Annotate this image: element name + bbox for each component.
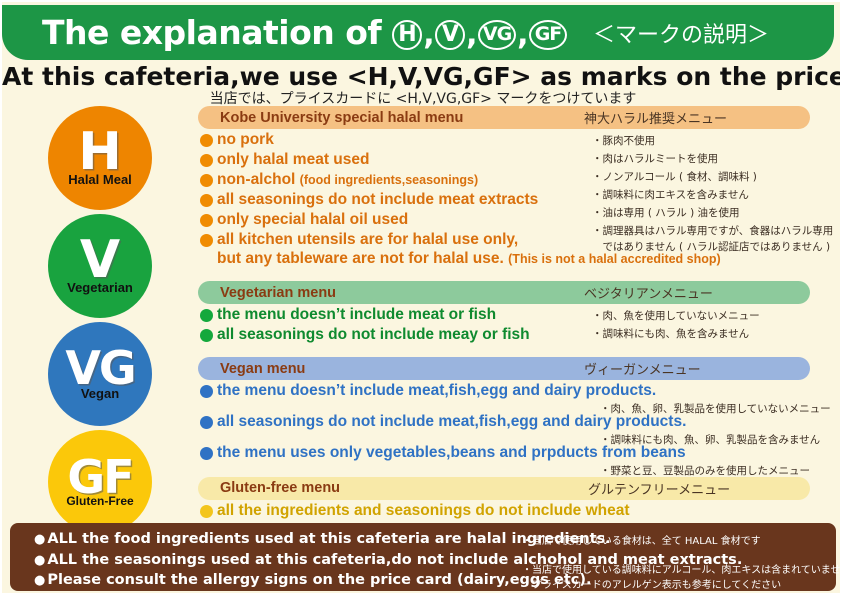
section-vegan: Vegan menu ヴィーガンメニュー the menu doesn’t in… (198, 357, 810, 463)
bullet-dot-icon (200, 447, 213, 460)
header-japanese-title: ＜マークの説明＞ (593, 17, 769, 49)
menu-item-text: the menu doesn’t include meat or fish (217, 306, 496, 325)
menu-item-text: non-alchol (food ingredients,seasonings) (217, 171, 478, 190)
section-halal-title-en: Kobe University special halal menu (220, 110, 463, 126)
footer-bullet-icon: ● (34, 552, 45, 570)
menu-item-japanese-note: ・肉はハラルミートを使用 (592, 151, 718, 166)
menu-item-text: no pork (217, 131, 274, 150)
badge-vegan-mark: VG (65, 347, 134, 389)
footer-japanese-note: ・当店で使用している調味料にアルコール、肉エキスは含まれていません (522, 561, 842, 576)
menu-item-row: only halal meat used (200, 151, 810, 170)
menu-item-row: all the ingredients and seasonings do no… (200, 502, 810, 521)
badge-halal-mark: H (78, 129, 122, 177)
footer-bullet-icon: ● (34, 531, 45, 549)
bullet-dot-icon (200, 214, 213, 227)
section-vegan-rows: the menu doesn’t include meat,fish,egg a… (200, 382, 810, 463)
menu-item-text: all seasonings do not include meay or fi… (217, 326, 530, 345)
menu-item-text: only halal meat used (217, 151, 369, 170)
mark-badge-list: H Halal Meal V Vegetarian VG Vegan GF Gl… (48, 106, 152, 538)
footer-note-text: Please consult the allergy signs on the … (47, 570, 591, 591)
bullet-dot-icon (200, 174, 213, 187)
header-banner: The explanation of H,V,VG,GF ＜マークの説明＞ (2, 5, 834, 60)
footer-bullet-icon: ● (34, 572, 45, 590)
section-vegetarian-title-jp: ベジタリアンメニュー (584, 283, 713, 302)
badge-halal: H Halal Meal (48, 106, 152, 210)
menu-item-japanese-note: ではありません ( ハラル認証店ではありません ) (592, 239, 830, 254)
badge-vegetarian-mark: V (80, 237, 120, 285)
badge-halal-label: Halal Meal (68, 172, 132, 187)
bullet-dot-icon (200, 416, 213, 429)
menu-item-text: all the ingredients and seasonings do no… (217, 502, 630, 521)
badge-vegan: VG Vegan (48, 322, 152, 426)
section-glutenfree-title-en: Gluten-free menu (220, 480, 340, 496)
menu-item-row: the menu doesn’t include meat,fish,egg a… (200, 382, 810, 401)
section-halal-title-jp: 神大ハラル推奨メニュー (584, 108, 727, 127)
section-vegetarian-title-en: Vegetarian menu (220, 285, 336, 301)
title-comma-1: , (422, 17, 435, 52)
badge-vegan-label: Vegan (81, 386, 119, 401)
bullet-dot-icon (200, 309, 213, 322)
footer-japanese-note: ・当店で使用している食材は、全て HALAL 食材です (522, 532, 761, 547)
menu-item-row: no pork (200, 131, 810, 150)
bullet-dot-icon (200, 329, 213, 342)
badge-glutenfree-mark: GF (67, 456, 132, 498)
menu-item-text: all seasonings do not include meat extra… (217, 191, 538, 210)
section-vegan-title-en: Vegan menu (220, 361, 305, 377)
menu-item-japanese-note: ・肉、魚を使用していないメニュー (592, 308, 760, 323)
menu-item-note: (This is not a halal accredited shop) (508, 252, 721, 266)
footer-japanese-note: ・プライスカードのアレルゲン表示も参考にしてください (522, 576, 781, 591)
bullet-dot-icon (200, 234, 213, 247)
section-halal-rows: no porkonly halal meat usednon-alchol (f… (200, 131, 810, 269)
menu-item-japanese-note: ・豚肉不使用 (592, 133, 655, 148)
section-vegan-title-jp: ヴィーガンメニュー (584, 359, 701, 378)
section-glutenfree-title-jp: グルテンフリーメニュー (588, 479, 730, 498)
section-glutenfree-header: Gluten-free menu グルテンフリーメニュー (198, 477, 810, 500)
title-mark-circles: H,V,VG,GF (392, 17, 567, 52)
subtitle-japanese: 当店では、プライスカードに <H,V,VG,GF> マークをつけています (2, 88, 842, 108)
menu-item-note: (food ingredients,seasonings) (300, 173, 479, 187)
section-vegetarian-header: Vegetarian menu ベジタリアンメニュー (198, 281, 810, 304)
poster-root: The explanation of H,V,VG,GF ＜マークの説明＞ At… (0, 0, 842, 595)
page-title: The explanation of H,V,VG,GF (42, 13, 567, 52)
menu-item-text: only special halal oil used (217, 211, 408, 230)
menu-item-japanese-note: ・調理器具はハラル専用ですが、食器はハラル専用 (592, 223, 833, 238)
menu-item-japanese-note: ・調味料に肉エキスを含みません (592, 187, 749, 202)
mark-circle-gf: GF (529, 20, 567, 50)
bullet-dot-icon (200, 385, 213, 398)
bullet-dot-icon (200, 194, 213, 207)
badge-glutenfree: GF Gluten-Free (48, 430, 152, 534)
section-vegan-header: Vegan menu ヴィーガンメニュー (198, 357, 810, 380)
badge-vegetarian-label: Vegetarian (67, 280, 133, 295)
menu-item-japanese-note: ・ノンアルコール ( 食材、調味料 ) (592, 169, 757, 184)
section-vegetarian: Vegetarian menu ベジタリアンメニュー the menu does… (198, 281, 810, 345)
subtitle-english: At this cafeteria,we use <H,V,VG,GF> as … (2, 62, 842, 91)
bullet-dot-icon (200, 154, 213, 167)
footer-notes: ●ALL the food ingredients used at this c… (10, 523, 836, 591)
title-prefix: The explanation of (42, 13, 392, 52)
menu-item-text: all kitchen utensils are for halal use o… (217, 231, 518, 250)
section-glutenfree: Gluten-free menu グルテンフリーメニュー all the ing… (198, 477, 810, 521)
badge-vegetarian: V Vegetarian (48, 214, 152, 318)
menu-item-japanese-note: ・調味料にも肉、魚、卵、乳製品を含みません (600, 432, 820, 447)
mark-circle-vg: VG (478, 20, 516, 50)
section-halal: Kobe University special halal menu 神大ハラル… (198, 106, 810, 269)
menu-item-japanese-note: ・肉、魚、卵、乳製品を使用していないメニュー (600, 401, 831, 416)
title-comma-3: , (516, 17, 529, 52)
badge-glutenfree-label: Gluten-Free (66, 494, 133, 508)
menu-item-japanese-note: ・調味料にも肉、魚を含みません (592, 326, 749, 341)
bullet-dot-icon (200, 134, 213, 147)
section-vegetarian-rows: the menu doesn’t include meat or fishall… (200, 306, 810, 345)
title-comma-2: , (465, 17, 478, 52)
mark-circle-h: H (392, 20, 422, 50)
bullet-dot-icon (200, 505, 213, 518)
section-halal-header: Kobe University special halal menu 神大ハラル… (198, 106, 810, 129)
section-glutenfree-rows: all the ingredients and seasonings do no… (200, 502, 810, 521)
menu-item-japanese-note: ・油は専用 ( ハラル ) 油を使用 (592, 205, 740, 220)
menu-sections: Kobe University special halal menu 神大ハラル… (198, 106, 810, 521)
mark-circle-v: V (435, 20, 465, 50)
menu-item-text: the menu doesn’t include meat,fish,egg a… (217, 382, 656, 401)
